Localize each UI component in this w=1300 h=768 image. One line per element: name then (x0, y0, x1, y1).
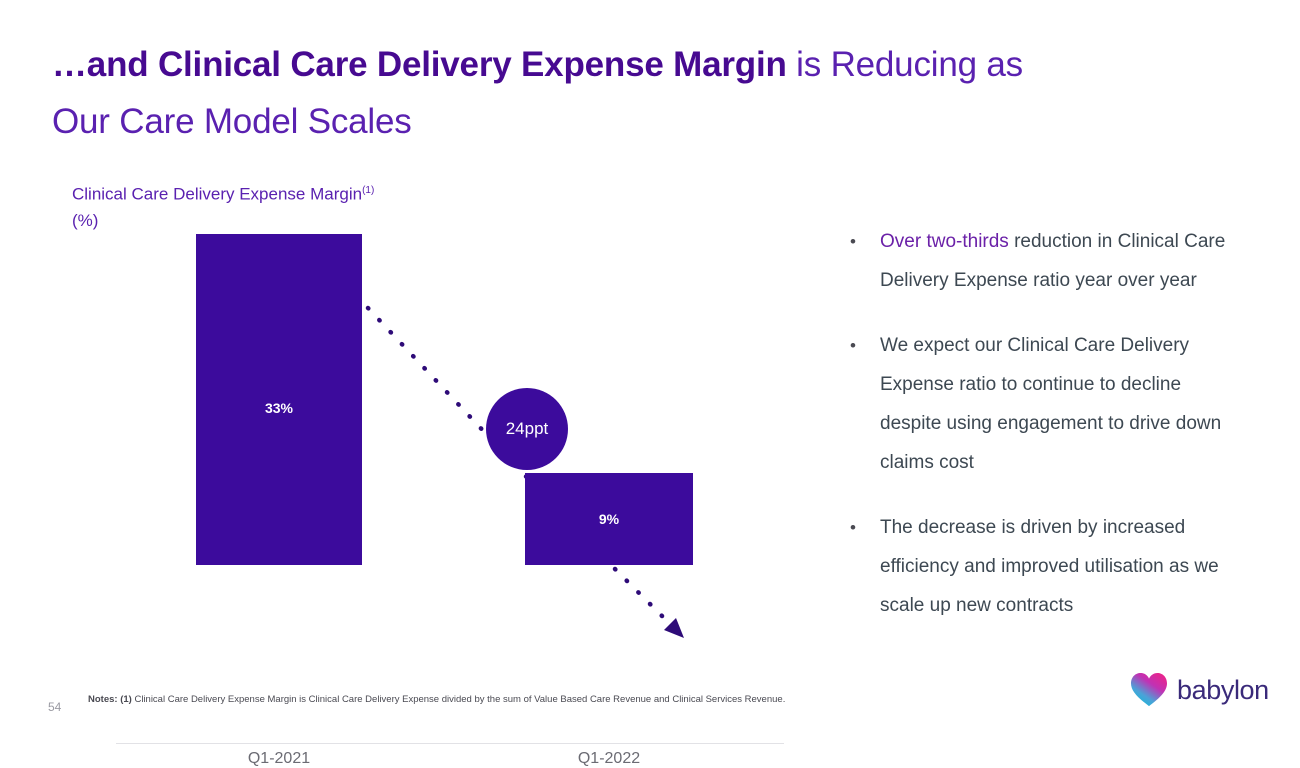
bullet-icon: • (845, 222, 880, 300)
footnote-prefix: Notes: (1) (88, 694, 132, 705)
list-item-highlight: Over two-thirds (880, 231, 1009, 252)
bar-chart-plot: 33% 9% 24ppt Q1-2021 Q1-2022 (72, 290, 784, 668)
list-item: • We expect our Clinical Care Delivery E… (845, 326, 1245, 482)
x-axis-label-q1-2021: Q1-2021 (196, 750, 362, 768)
chart-caption-footnote-marker: (1) (362, 185, 374, 196)
heart-icon (1130, 672, 1168, 708)
list-item: • The decrease is driven by increased ef… (845, 508, 1245, 625)
page-title-line-1: …and Clinical Care Delivery Expense Marg… (52, 36, 1242, 93)
list-item-body: The decrease is driven by increased effi… (880, 517, 1219, 616)
page-title: …and Clinical Care Delivery Expense Marg… (52, 36, 1242, 150)
page-number: 54 (48, 700, 61, 714)
list-item-text: Over two-thirds reduction in Clinical Ca… (880, 222, 1245, 300)
logo-wordmark: babylon (1177, 675, 1269, 706)
chart-caption-text: Clinical Care Delivery Expense Margin (72, 185, 362, 204)
bar-value-label-q1-2022: 9% (525, 511, 693, 527)
babylon-logo: babylon (1130, 672, 1269, 708)
chart-caption: Clinical Care Delivery Expense Margin(1) (72, 178, 784, 208)
x-axis-line (116, 743, 784, 744)
list-item-body: We expect our Clinical Care Delivery Exp… (880, 335, 1221, 473)
list-item-text: We expect our Clinical Care Delivery Exp… (880, 326, 1245, 482)
delta-badge: 24ppt (486, 388, 568, 470)
bar-q1-2021: 33% (196, 234, 362, 565)
chart-units-label: (%) (72, 208, 784, 234)
bar-value-label-q1-2021: 33% (196, 400, 362, 416)
page-title-remainder: is Reducing as (787, 45, 1023, 84)
bar-q1-2022: 9% (525, 473, 693, 565)
key-points-list: • Over two-thirds reduction in Clinical … (845, 222, 1245, 651)
bullet-icon: • (845, 326, 880, 482)
chart-panel: Clinical Care Delivery Expense Margin(1)… (72, 178, 784, 668)
x-axis-label-q1-2022: Q1-2022 (525, 750, 693, 768)
list-item: • Over two-thirds reduction in Clinical … (845, 222, 1245, 300)
page-title-emphasis: …and Clinical Care Delivery Expense Marg… (52, 45, 787, 84)
list-item-text: The decrease is driven by increased effi… (880, 508, 1245, 625)
page-title-line-2: Our Care Model Scales (52, 93, 1242, 150)
footnote-text: Clinical Care Delivery Expense Margin is… (132, 694, 786, 705)
footnote: Notes: (1) Clinical Care Delivery Expens… (88, 694, 785, 705)
bullet-icon: • (845, 508, 880, 625)
